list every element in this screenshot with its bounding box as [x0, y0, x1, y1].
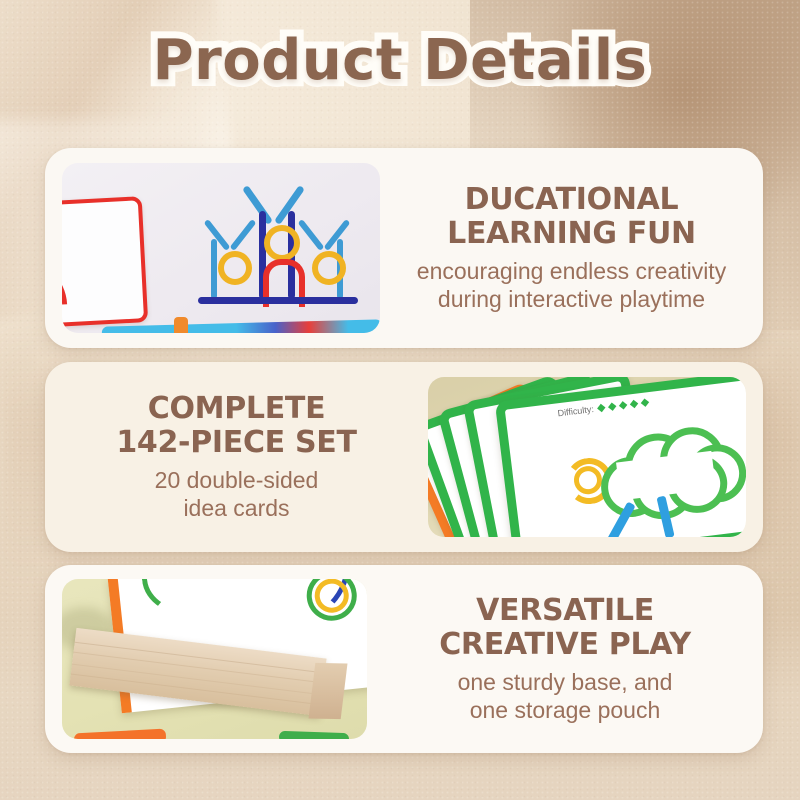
green-stick-bottom	[279, 731, 349, 739]
idea-card-red	[62, 196, 148, 332]
feature-card-versatile-creative-play: VERSATILE CREATIVE PLAY one sturdy base,…	[45, 565, 763, 753]
feature-image-card-fan: Difficulty:	[428, 377, 746, 537]
feature-copy: VERSATILE CREATIVE PLAY one sturdy base,…	[367, 594, 763, 725]
wall-stick	[211, 239, 217, 299]
difficulty-star-icon	[597, 404, 605, 412]
feature-card-educational-learning-fun: DUCATIONAL LEARNING FUN encouraging endl…	[45, 148, 763, 348]
feature-subtext: 20 double-sided idea cards	[59, 467, 414, 522]
headline-line: CREATIVE PLAY	[381, 628, 749, 662]
subtext-line: one storage pouch	[381, 697, 749, 725]
roof-stick	[242, 185, 273, 225]
stick-castle-illustration	[202, 181, 374, 313]
headline-line: DUCATIONAL	[394, 183, 749, 217]
feature-card-complete-142-piece-set: COMPLETE 142-PIECE SET 20 double-sided i…	[45, 362, 763, 552]
feature-headline: COMPLETE 142-PIECE SET	[59, 392, 414, 460]
subtext-line: 20 double-sided	[59, 467, 414, 495]
feature-headline: VERSATILE CREATIVE PLAY	[381, 594, 749, 662]
feature-headline: DUCATIONAL LEARNING FUN	[394, 183, 749, 251]
feature-image-wooden-stand	[62, 579, 367, 739]
difficulty-star-icon	[630, 400, 638, 408]
base-stick	[198, 297, 358, 304]
page-title-container: Product Details	[0, 28, 800, 93]
feature-subtext: encouraging endless creativity during in…	[394, 258, 749, 313]
difficulty-star-icon	[641, 398, 649, 406]
difficulty-star-icon	[608, 402, 616, 410]
headline-line: 142-PIECE SET	[59, 426, 414, 460]
idea-card-front: Difficulty:	[495, 377, 746, 537]
feature-subtext: one sturdy base, and one storage pouch	[381, 669, 749, 724]
wooden-base-end	[309, 663, 348, 719]
roof-stick	[230, 219, 257, 251]
subtext-line: during interactive playtime	[394, 286, 749, 314]
difficulty-row: Difficulty:	[557, 397, 649, 418]
feature-image-castle	[62, 163, 380, 333]
roof-stick	[204, 219, 231, 251]
headline-line: LEARNING FUN	[394, 217, 749, 251]
red-arc-shape	[62, 239, 87, 333]
roof-stick	[298, 219, 325, 251]
headline-line: COMPLETE	[59, 392, 414, 426]
feature-copy: DUCATIONAL LEARNING FUN encouraging endl…	[380, 183, 763, 314]
subtext-line: one sturdy base, and	[381, 669, 749, 697]
yellow-ring-window	[312, 251, 346, 285]
orange-stick	[174, 317, 188, 333]
difficulty-star-icon	[619, 401, 627, 409]
feature-copy: COMPLETE 142-PIECE SET 20 double-sided i…	[45, 392, 428, 523]
subtext-line: idea cards	[59, 495, 414, 523]
yellow-ring-window	[264, 225, 300, 261]
headline-line: VERSATILE	[381, 594, 749, 628]
page-title: Product Details	[153, 28, 648, 93]
subtext-line: encouraging endless creativity	[394, 258, 749, 286]
yellow-ring-window	[218, 251, 252, 285]
difficulty-label: Difficulty:	[557, 404, 594, 418]
